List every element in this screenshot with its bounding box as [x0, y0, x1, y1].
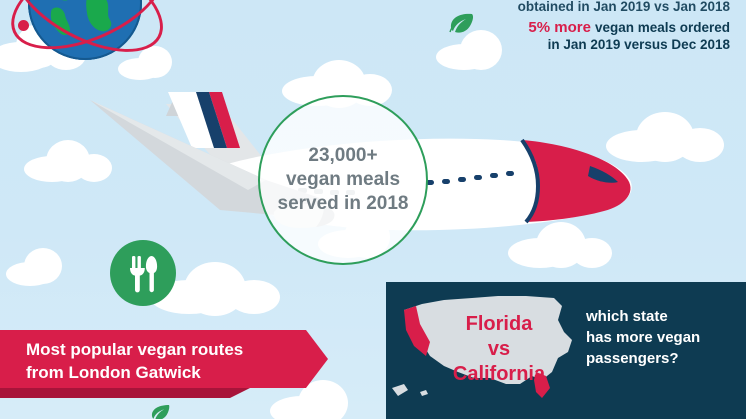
top-stat-row: 5% more vegan meals ordered: [430, 19, 730, 36]
vegan-meals-stat-circle: 23,000+ vegan meals served in 2018: [258, 95, 428, 265]
leaf-icon: [448, 12, 474, 34]
ribbon-line-1: Most popular vegan routes: [26, 338, 243, 361]
question-line-1: which state: [586, 306, 726, 327]
circle-line-3: served in 2018: [278, 192, 409, 216]
popular-routes-ribbon: Most popular vegan routes from London Ga…: [0, 330, 306, 388]
state-a-label: Florida: [434, 312, 564, 337]
top-stat-rest: vegan meals ordered: [595, 19, 730, 36]
state-comparison-panel: Florida vs California which state has mo…: [386, 282, 746, 419]
state-b-label: California: [434, 362, 564, 387]
infographic-stage: obtained in Jan 2019 vs Jan 2018 5% more…: [0, 0, 746, 419]
usa-map-icon: Florida vs California: [386, 280, 582, 412]
ribbon-line-2: from London Gatwick: [26, 361, 243, 384]
circle-line-1: 23,000+: [308, 144, 377, 168]
vs-label: vs: [434, 337, 564, 362]
question-line-2: has more vegan: [586, 327, 726, 348]
top-stat-line2: in Jan 2019 versus Dec 2018: [430, 36, 730, 53]
circle-line-2: vegan meals: [286, 168, 400, 192]
top-stat-block: obtained in Jan 2019 vs Jan 2018 5% more…: [430, 0, 730, 53]
ribbon-text: Most popular vegan routes from London Ga…: [26, 338, 243, 384]
panel-question: which state has more vegan passengers?: [586, 306, 726, 369]
fork-and-spoon-icon: [110, 240, 176, 306]
globe-illustration: [10, 0, 160, 78]
top-stat-cut-line: obtained in Jan 2019 vs Jan 2018: [430, 0, 730, 15]
leaf-icon: [150, 404, 170, 419]
top-stat-percent: 5% more: [528, 19, 591, 36]
orbit-dot: [18, 20, 29, 31]
cutlery-badge: [110, 240, 176, 306]
state-names: Florida vs California: [434, 312, 564, 387]
question-line-3: passengers?: [586, 348, 726, 369]
ribbon-shadow: [0, 388, 250, 398]
